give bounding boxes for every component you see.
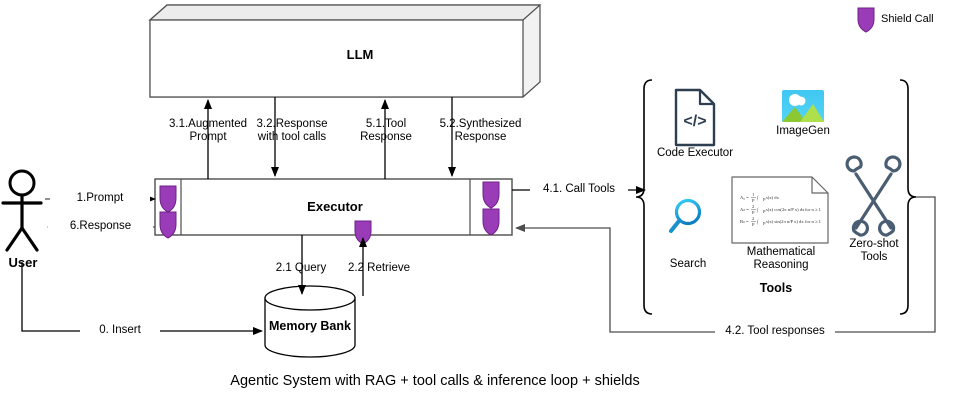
memory-bank-label: Memory Bank — [250, 320, 370, 333]
tools-group-label: Tools — [726, 282, 826, 295]
svg-text:A₀ =: A₀ = — [740, 195, 749, 200]
svg-text:P: P — [752, 210, 755, 215]
crossed-wrenches-icon — [847, 157, 900, 235]
tool-label-code-executor: Code Executor — [645, 147, 745, 160]
tool-label-math-reasoning: Mathematical Reasoning — [736, 246, 826, 272]
svg-text:s(x) sin(2π n/P x) dx: s(x) sin(2π n/P x) dx — [766, 219, 804, 224]
tool-label-zero-shot: Zero-shot Tools — [838, 238, 910, 264]
diagram-caption: Agentic System with RAG + tool calls & i… — [0, 375, 870, 388]
math-document-icon: A₀ = 1P ∫Ps(x) dx Aₙ = 2P ∫Ps(x) cos(2π … — [732, 177, 828, 243]
edge-label-synthesized-response-l1: 5.2.Synthesized — [418, 118, 543, 131]
edge-label-prompt: 1.Prompt — [50, 192, 150, 205]
user-label: User — [0, 256, 46, 269]
legend-shield-label: Shield Call — [881, 13, 970, 26]
image-icon — [782, 90, 824, 122]
edge-label-response-tool-calls-l1: 3.2.Response — [232, 118, 352, 131]
edge-label-call-tools: 4.1. Call Tools — [530, 183, 628, 196]
edge-label-response: 6.Response — [48, 220, 153, 233]
edge-insert — [22, 262, 262, 331]
edge-label-tool-responses: 4.2. Tool responses — [715, 325, 835, 338]
user-figure[interactable] — [3, 171, 41, 250]
edge-label-response-tool-calls-l2: with tool calls — [232, 131, 352, 144]
svg-text:for n ≥ 1: for n ≥ 1 — [805, 207, 822, 212]
llm-label: LLM — [290, 48, 430, 61]
svg-text:s(x) cos(2π n/P x) dx: s(x) cos(2π n/P x) dx — [766, 207, 805, 212]
svg-text:P: P — [752, 222, 755, 227]
svg-text:for n ≥ 1: for n ≥ 1 — [805, 219, 822, 224]
svg-text:Aₙ =: Aₙ = — [740, 207, 749, 212]
svg-text:s(x) dx: s(x) dx — [766, 195, 780, 200]
svg-text:Bₙ =: Bₙ = — [740, 219, 749, 224]
edge-label-retrieve: 2.2 Retrieve — [330, 262, 428, 275]
edge-label-insert: 0. Insert — [80, 324, 160, 337]
tool-label-imagegen: ImageGen — [763, 125, 843, 138]
tool-label-search: Search — [648, 258, 728, 271]
svg-text:</>: </> — [683, 113, 706, 130]
edge-label-synthesized-response-l2: Response — [418, 131, 543, 144]
shield-icon-legend — [858, 8, 874, 32]
architecture-diagram: </> A₀ = 1P ∫Ps(x) dx Aₙ = 2P ∫Ps(x) cos… — [0, 0, 970, 411]
executor-label: Executor — [265, 200, 405, 213]
svg-text:P: P — [752, 198, 755, 203]
magnifier-icon — [671, 201, 700, 232]
code-document-icon: </> — [676, 90, 714, 145]
